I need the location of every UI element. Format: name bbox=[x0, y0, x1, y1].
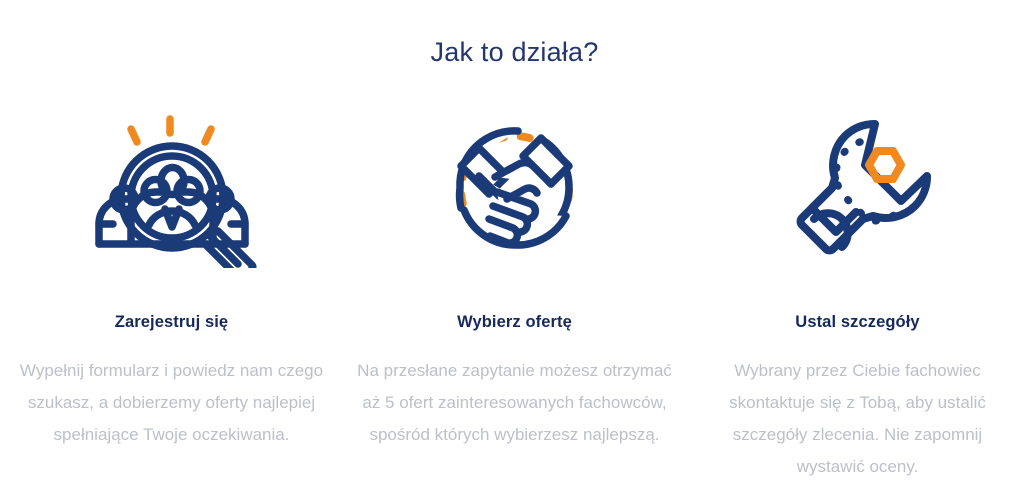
step-title: Ustal szczegóły bbox=[795, 312, 919, 333]
steps-list: Zarejestruj się Wypełnij formularz i pow… bbox=[0, 110, 1029, 483]
step-title: Zarejestruj się bbox=[115, 312, 228, 333]
page-title: Jak to działa? bbox=[0, 36, 1029, 68]
how-it-works-section: Jak to działa? bbox=[0, 0, 1029, 503]
step-card-register: Zarejestruj się Wypełnij formularz i pow… bbox=[0, 110, 343, 451]
step-title: Wybierz ofertę bbox=[457, 312, 572, 333]
step-card-choose-offer: Wybierz ofertę Na przesłane zapytanie mo… bbox=[343, 110, 686, 451]
handshake-icon bbox=[343, 110, 686, 270]
wrench-nut-icon bbox=[686, 110, 1029, 270]
step-card-settle-details: Ustal szczegóły Wybrany przez Ciebie fac… bbox=[686, 110, 1029, 483]
step-description: Na przesłane zapytanie możesz otrzymać a… bbox=[350, 355, 680, 451]
step-description: Wypełnij formularz i powiedz nam czego s… bbox=[17, 355, 327, 451]
step-description: Wybrany przez Ciebie fachowiec skontaktu… bbox=[708, 355, 1008, 483]
magnifier-people-icon bbox=[0, 110, 343, 270]
